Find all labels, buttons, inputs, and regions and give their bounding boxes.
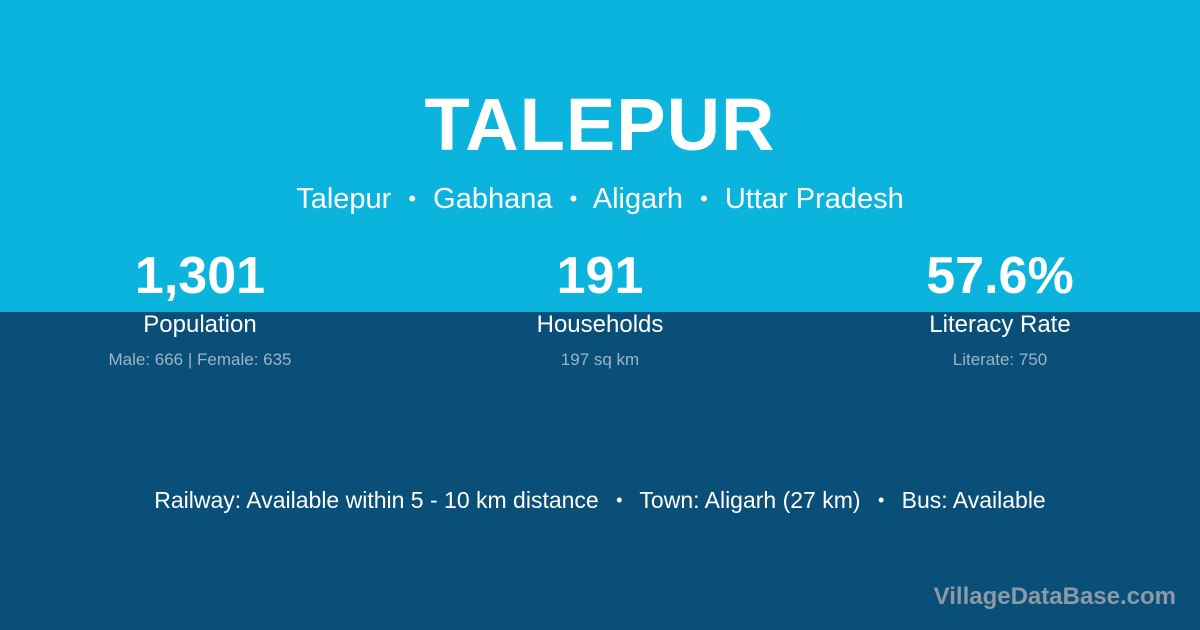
stats-row: 1,301 Population Male: 666 | Female: 635… xyxy=(0,246,1200,371)
stat-label: Literacy Rate xyxy=(800,310,1200,340)
amenity-town: Town: Aligarh (27 km) xyxy=(639,487,860,513)
amenity-railway: Railway: Available within 5 - 10 km dist… xyxy=(154,487,598,513)
stat-value: 191 xyxy=(400,246,800,306)
stat-label: Households xyxy=(400,310,800,340)
breadcrumb-item-state: Uttar Pradesh xyxy=(725,183,904,215)
breadcrumb-item-district: Aligarh xyxy=(593,183,683,215)
stat-sublabel: Male: 666 | Female: 635 xyxy=(0,349,400,371)
village-info-card: TALEPUR Talepur • Gabhana • Aligarh • Ut… xyxy=(0,0,1200,630)
stat-population: 1,301 Population Male: 666 | Female: 635 xyxy=(0,246,400,371)
stat-literacy-rate: 57.6% Literacy Rate Literate: 750 xyxy=(800,246,1200,371)
stat-label: Population xyxy=(0,310,400,340)
amenity-separator-icon: • xyxy=(878,484,884,516)
breadcrumb: Talepur • Gabhana • Aligarh • Uttar Prad… xyxy=(0,180,1200,218)
stat-sublabel: Literate: 750 xyxy=(800,349,1200,371)
breadcrumb-separator-icon: • xyxy=(700,180,708,218)
stat-value: 57.6% xyxy=(800,246,1200,306)
stat-households: 191 Households 197 sq km xyxy=(400,246,800,371)
page-title: TALEPUR xyxy=(0,82,1200,168)
stat-sublabel: 197 sq km xyxy=(400,349,800,371)
breadcrumb-item-block: Gabhana xyxy=(433,183,552,215)
breadcrumb-separator-icon: • xyxy=(570,180,578,218)
amenity-separator-icon: • xyxy=(616,484,622,516)
amenity-bus: Bus: Available xyxy=(902,487,1046,513)
breadcrumb-item-village: Talepur xyxy=(296,183,391,215)
breadcrumb-separator-icon: • xyxy=(408,180,416,218)
stat-value: 1,301 xyxy=(0,246,400,306)
site-watermark: VillageDataBase.com xyxy=(934,582,1176,612)
amenities-line: Railway: Available within 5 - 10 km dist… xyxy=(0,484,1200,516)
